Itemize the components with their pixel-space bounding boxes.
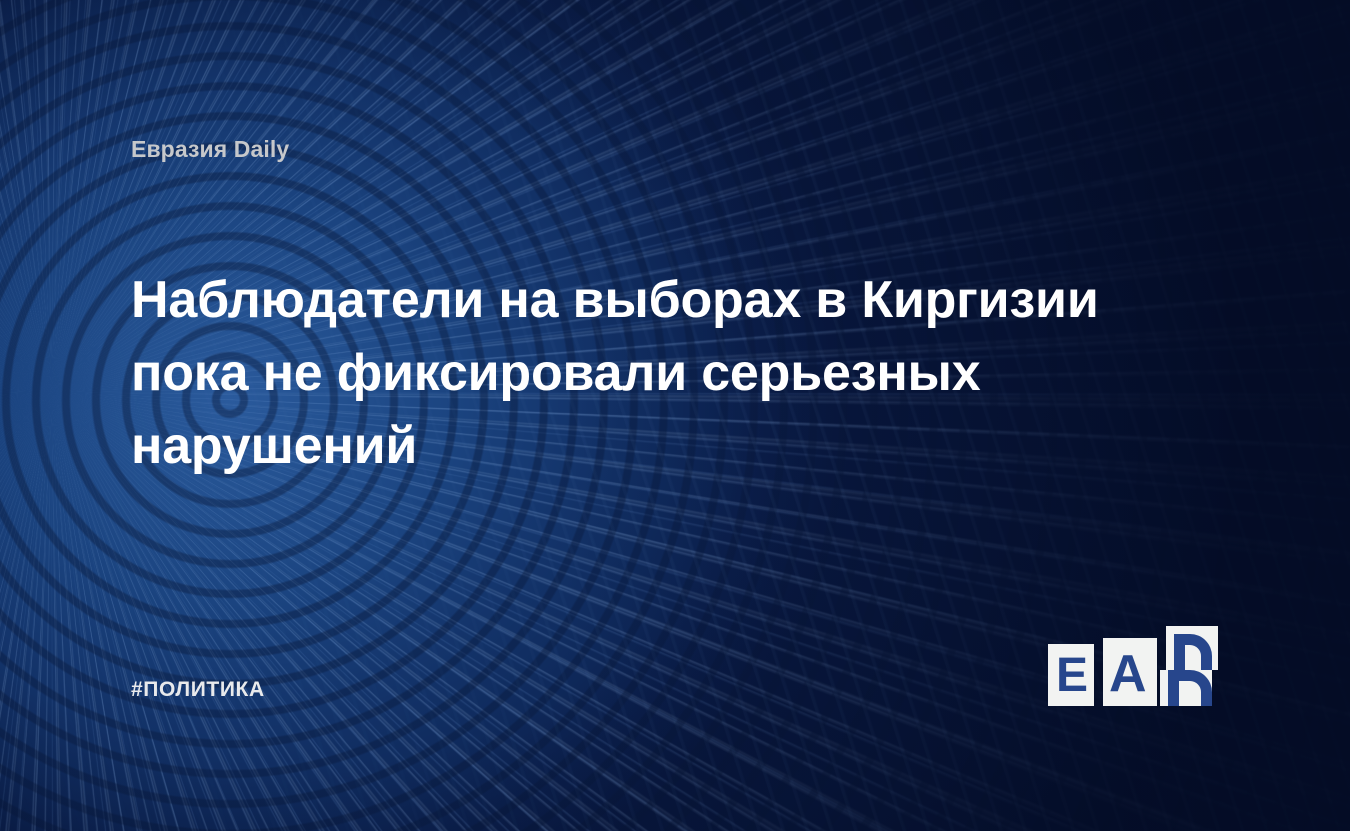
logo-letter-d-lower	[1154, 670, 1216, 706]
logo-letter-e: E	[1056, 652, 1088, 700]
card-content: Евразия Daily Наблюдатели на выборах в К…	[0, 0, 1350, 831]
article-share-card: Евразия Daily Наблюдатели на выборах в К…	[0, 0, 1350, 831]
category-tag: #ПОЛИТИКА	[131, 678, 265, 702]
logo-letter-d-upper	[1160, 626, 1222, 670]
eadaily-logo: E A	[1046, 624, 1228, 710]
article-headline: Наблюдатели на выборах в Киргизии пока н…	[131, 264, 1141, 483]
site-name: Евразия Daily	[131, 136, 289, 163]
logo-letter-a: A	[1109, 648, 1147, 700]
